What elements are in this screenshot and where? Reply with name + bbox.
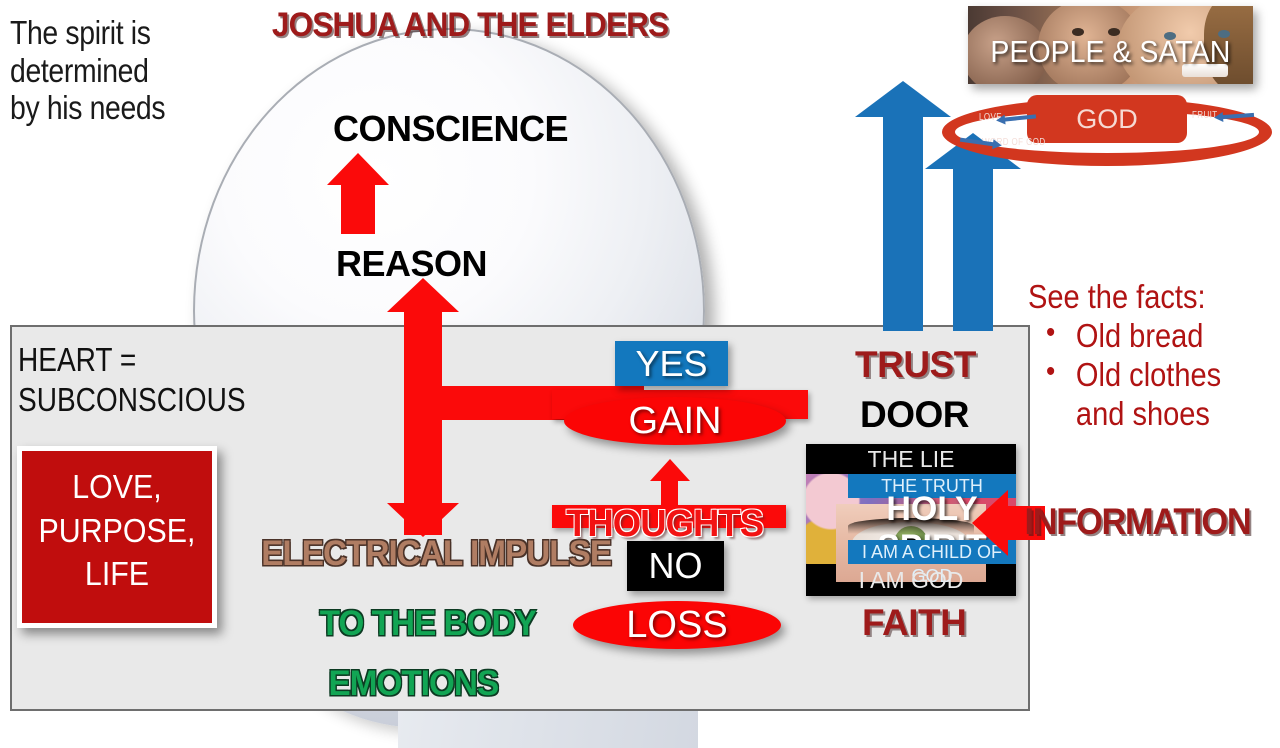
faith-label: FAITH	[862, 602, 966, 644]
conscience-label: CONSCIENCE	[333, 108, 568, 150]
life-line: LIFE	[30, 552, 205, 596]
reason-arrow-shaft	[404, 305, 442, 535]
information-text: INFORMATION	[1025, 501, 1251, 543]
caption-line-3: by his needs	[10, 89, 208, 127]
information-label: INFORMATION	[1016, 501, 1259, 543]
love-purpose-life-box: LOVE, PURPOSE, LIFE	[17, 446, 217, 628]
god-label-box: GOD	[1027, 95, 1187, 143]
faith-arrow-shaft	[953, 165, 993, 331]
people-and-satan-caption: PEOPLE & SATAN	[968, 34, 1253, 70]
emotions-label: EMOTIONS	[324, 664, 503, 704]
emotions-text: EMOTIONS	[328, 664, 498, 704]
trust-arrow-shaft	[883, 113, 923, 331]
page-title: JOSHUA AND THE ELDERS	[250, 6, 690, 45]
trust-arrow-head-icon	[855, 81, 951, 117]
caption-line-1: The spirit is	[10, 14, 208, 52]
see-the-facts-block: See the facts: Old bread Old clothes and…	[1028, 278, 1278, 434]
yes-box[interactable]: YES	[615, 341, 728, 386]
list-item: and shoes	[1046, 395, 1250, 434]
slide-canvas: The spirit is determined by his needs JO…	[0, 0, 1280, 720]
to-the-body-label: TO THE BODY	[314, 604, 542, 644]
i-am-god-label: I AM GOD	[806, 564, 1016, 596]
love-line: LOVE,	[30, 465, 205, 509]
facts-heading: See the facts:	[1028, 278, 1248, 317]
thoughts-label: THOUGHTS	[562, 503, 767, 546]
heart-line-2: SUBCONSCIOUS	[18, 380, 246, 420]
thoughts-arrow-head-icon	[650, 459, 690, 481]
the-lie-label: THE LIE	[806, 444, 1016, 474]
electrical-impulse-text: ELECTRICAL IMPULSE	[261, 534, 611, 574]
purpose-line: PURPOSE,	[30, 509, 205, 553]
conscience-arrow-head-icon	[327, 153, 389, 185]
caption-line-2: determined	[10, 52, 208, 90]
page-title-text: JOSHUA AND THE ELDERS	[272, 6, 668, 45]
door-label: DOOR	[860, 394, 969, 436]
to-the-body-text: TO THE BODY	[320, 604, 536, 644]
list-item: Old bread	[1046, 317, 1250, 356]
thoughts-text: THOUGHTS	[566, 503, 763, 546]
gain-oval[interactable]: GAIN	[564, 397, 786, 445]
list-item: Old clothes	[1046, 356, 1250, 395]
heart-line-1: HEART =	[18, 340, 246, 380]
trust-label: TRUST	[855, 344, 976, 386]
no-box[interactable]: NO	[627, 541, 724, 591]
people-and-satan-image: PEOPLE & SATAN	[968, 6, 1253, 84]
loss-oval[interactable]: LOSS	[573, 601, 781, 649]
heart-subconscious-label: HEART = SUBCONSCIOUS	[18, 340, 286, 419]
reason-arrow-up-head-icon	[387, 278, 459, 312]
information-arrow-head-icon	[972, 490, 1008, 556]
facts-list: Old bread Old clothes and shoes	[1028, 317, 1278, 434]
people-and-satan-text: PEOPLE & SATAN	[991, 34, 1231, 70]
reason-arrow-down-head-icon	[387, 503, 459, 537]
